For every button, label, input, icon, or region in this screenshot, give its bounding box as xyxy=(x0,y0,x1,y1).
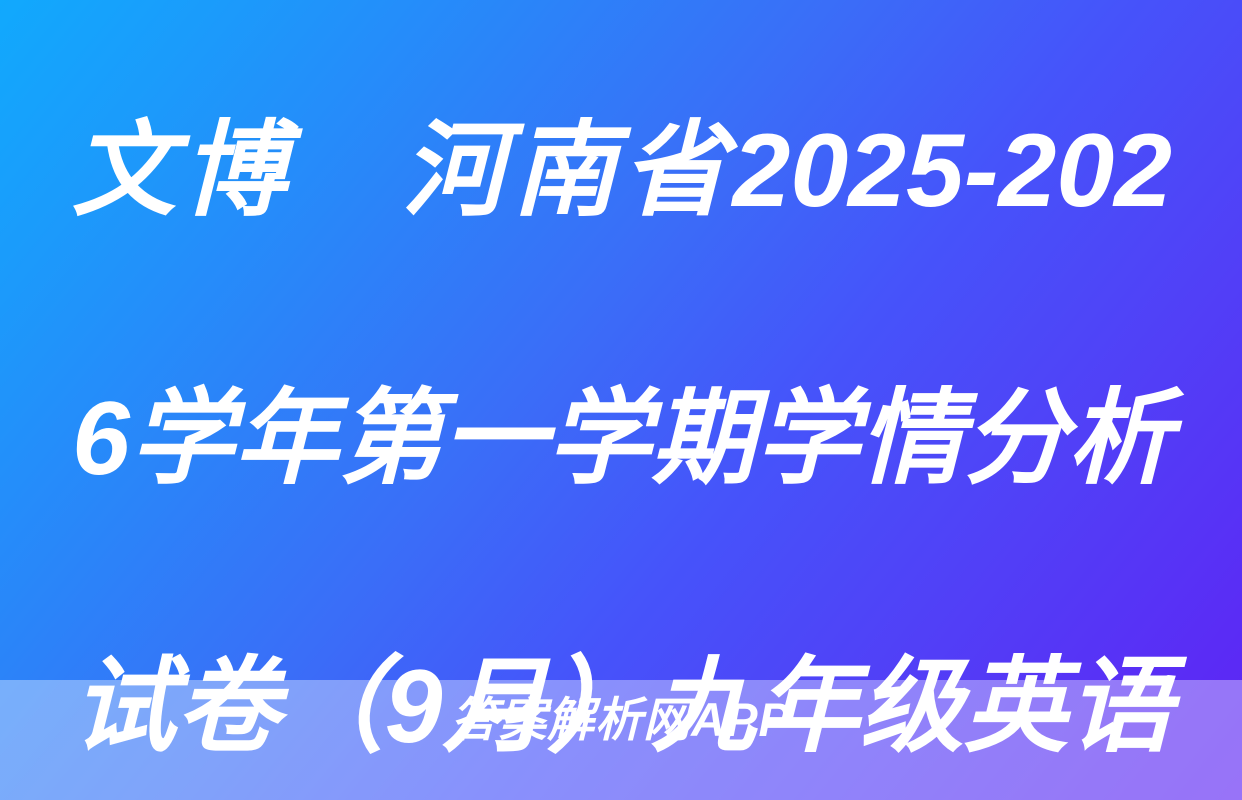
footer-band: 答案解析网APP xyxy=(0,680,1242,800)
title-line-1: 文博 河南省2025-202 xyxy=(72,104,1172,372)
title-line-2: 6学年第一学期学情分析 xyxy=(72,372,1172,640)
promo-card: 文博 河南省2025-202 6学年第一学期学情分析 试卷（9月）九年级英语 （… xyxy=(0,0,1242,800)
app-name-label: 答案解析网APP xyxy=(451,695,791,744)
